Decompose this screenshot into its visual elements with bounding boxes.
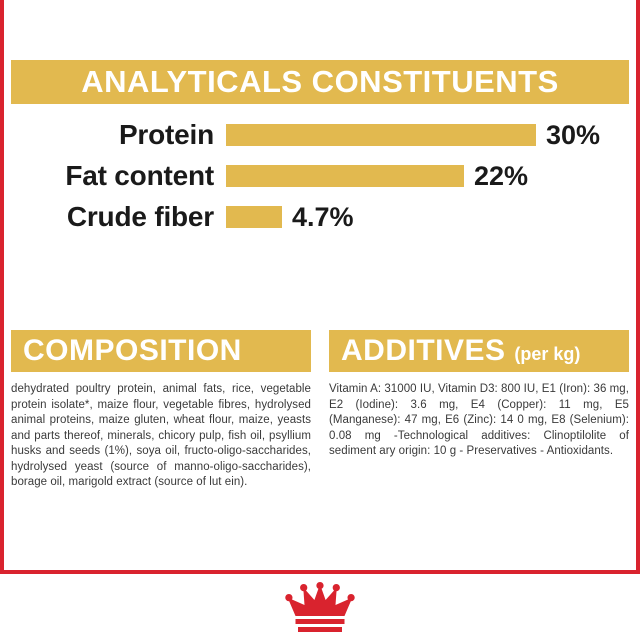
nutrient-value: 4.7% [282, 202, 354, 233]
composition-text: dehydrated poultry protein, animal fats,… [11, 382, 311, 491]
nutrient-row: Protein 30% [11, 116, 629, 154]
additives-panel: ADDITIVES (per kg) Vitamin A: 31000 IU, … [329, 330, 629, 471]
composition-panel: COMPOSITION dehydrated poultry protein, … [11, 330, 311, 502]
nutrient-row: Fat content 22% [11, 157, 629, 195]
composition-header: COMPOSITION [11, 330, 311, 372]
additives-header-title: ADDITIVES [341, 334, 506, 367]
royal-canin-crown-icon [272, 578, 368, 636]
footer-bar [0, 570, 640, 640]
nutrient-row: Crude fiber 4.7% [11, 198, 629, 236]
additives-header-suffix: (per kg) [514, 344, 580, 364]
nutrient-bar [226, 165, 464, 187]
nutrient-label: Protein [11, 119, 226, 151]
additives-header: ADDITIVES (per kg) [329, 330, 629, 372]
analyticals-header: ANALYTICALS CONSTITUENTS [11, 60, 629, 104]
left-red-rule [0, 0, 4, 640]
nutrient-label: Fat content [11, 160, 226, 192]
nutrient-bar [226, 124, 536, 146]
right-red-rule [636, 0, 640, 640]
nutrient-list: Protein 30% Fat content 22% Crude fiber … [11, 116, 629, 236]
nutrient-label: Crude fiber [11, 201, 226, 233]
nutrient-bar [226, 206, 282, 228]
nutrient-value: 22% [464, 161, 528, 192]
nutrient-value: 30% [536, 120, 600, 151]
analytical-constituents-panel: ANALYTICALS CONSTITUENTS Protein 30% Fat… [11, 60, 629, 239]
additives-text: Vitamin A: 31000 IU, Vitamin D3: 800 IU,… [329, 382, 629, 460]
